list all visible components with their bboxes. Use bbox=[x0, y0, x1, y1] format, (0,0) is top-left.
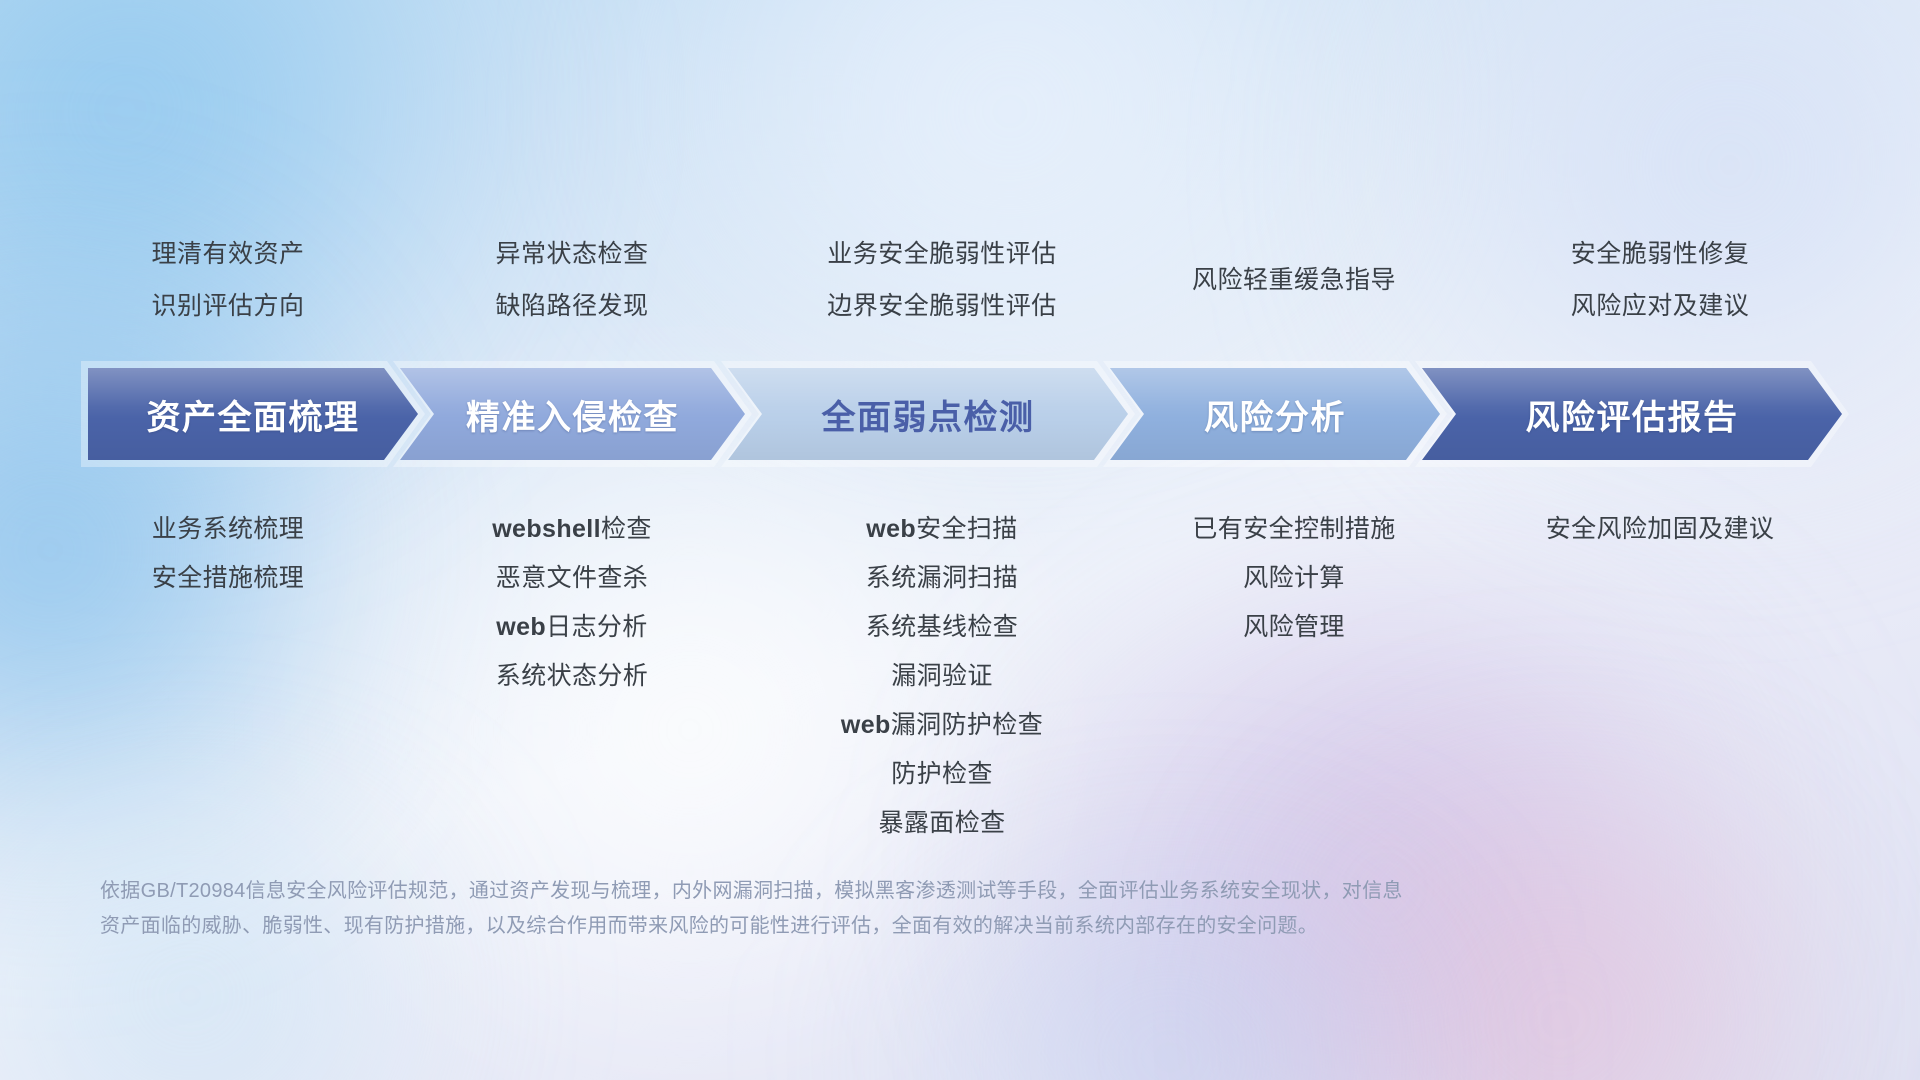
bottom-label-item: 暴露面检查 bbox=[841, 799, 1043, 848]
stage-chevron-5[interactable]: 风险评估报告 bbox=[1422, 368, 1842, 460]
bottom-label-item: 安全措施梳理 bbox=[152, 554, 304, 603]
bottom-label-latin: web bbox=[866, 515, 916, 543]
bottom-label-cjk: 暴露面检查 bbox=[878, 809, 1005, 837]
bottom-label-cjk: 防护检查 bbox=[891, 760, 993, 788]
bottom-label-item: 系统基线检查 bbox=[841, 603, 1043, 652]
bottom-label-cjk: 已有安全控制措施 bbox=[1192, 515, 1395, 543]
footer-line-1: 依据GB/T20984信息安全风险评估规范，通过资产发现与梳理，内外网漏洞扫描，… bbox=[100, 874, 1660, 909]
bottom-label-cjk: 安全扫描 bbox=[916, 515, 1018, 543]
top-label-line: 识别评估方向 bbox=[151, 280, 304, 332]
bottom-label-latin: web bbox=[841, 711, 891, 739]
stage-chevron-1[interactable]: 资产全面梳理 bbox=[88, 368, 418, 460]
stage-title: 精准入侵检查 bbox=[466, 390, 679, 439]
bottom-label-item: 风险计算 bbox=[1192, 554, 1395, 603]
stage-title: 全面弱点检测 bbox=[822, 390, 1035, 439]
bottom-label-cjk: 恶意文件查杀 bbox=[496, 564, 648, 592]
bottom-label-group-3: web安全扫描系统漏洞扫描系统基线检查漏洞验证web漏洞防护检查防护检查暴露面检… bbox=[841, 505, 1043, 848]
bottom-label-cjk: 漏洞验证 bbox=[891, 662, 993, 690]
stage-chevron-4[interactable]: 风险分析 bbox=[1110, 368, 1440, 460]
top-label-line: 理清有效资产 bbox=[151, 228, 304, 280]
bottom-label-latin: web bbox=[496, 613, 546, 641]
bottom-label-item: 风险管理 bbox=[1192, 603, 1395, 652]
footer-description: 依据GB/T20984信息安全风险评估规范，通过资产发现与梳理，内外网漏洞扫描，… bbox=[100, 874, 1660, 944]
bottom-label-cjk: 安全措施梳理 bbox=[152, 564, 304, 592]
top-label-line: 安全脆弱性修复 bbox=[1571, 228, 1750, 280]
bottom-label-group-5: 安全风险加固及建议 bbox=[1546, 505, 1775, 554]
bottom-label-cjk: 业务系统梳理 bbox=[152, 515, 304, 543]
top-label-line: 异常状态检查 bbox=[495, 228, 648, 280]
bottom-label-item: 安全风险加固及建议 bbox=[1546, 505, 1775, 554]
process-diagram: 理清有效资产识别评估方向异常状态检查缺陷路径发现业务安全脆弱性评估边界安全脆弱性… bbox=[0, 0, 1920, 1080]
bottom-label-item: web日志分析 bbox=[492, 603, 652, 652]
bottom-label-group-4: 已有安全控制措施风险计算风险管理 bbox=[1192, 505, 1395, 652]
bottom-label-item: 已有安全控制措施 bbox=[1192, 505, 1395, 554]
stage-chevron-3[interactable]: 全面弱点检测 bbox=[728, 368, 1128, 460]
top-label-line: 缺陷路径发现 bbox=[495, 280, 648, 332]
bottom-label-item: 业务系统梳理 bbox=[152, 505, 304, 554]
top-label-line: 风险应对及建议 bbox=[1571, 280, 1750, 332]
bottom-label-cjk: 系统漏洞扫描 bbox=[866, 564, 1018, 592]
stage-chevron-band: 资产全面梳理精准入侵检查全面弱点检测风险分析风险评估报告 bbox=[0, 368, 1920, 460]
stage-title: 资产全面梳理 bbox=[147, 390, 360, 439]
bottom-label-cjk: 安全风险加固及建议 bbox=[1546, 515, 1775, 543]
bottom-label-cjk: 日志分析 bbox=[546, 613, 648, 641]
bottom-label-item: webshell检查 bbox=[492, 505, 652, 554]
footer-line-2: 资产面临的威胁、脆弱性、现有防护措施，以及综合作用而带来风险的可能性进行评估，全… bbox=[100, 909, 1660, 944]
top-label-line: 边界安全脆弱性评估 bbox=[827, 280, 1057, 332]
top-label-line: 风险轻重缓急指导 bbox=[1192, 254, 1396, 306]
bottom-label-cjk: 检查 bbox=[601, 515, 652, 543]
stage-title: 风险分析 bbox=[1204, 390, 1346, 439]
bottom-label-cjk: 漏洞防护检查 bbox=[891, 711, 1043, 739]
bottom-label-latin: webshell bbox=[492, 515, 601, 543]
bottom-label-item: 漏洞验证 bbox=[841, 652, 1043, 701]
bottom-label-item: 恶意文件查杀 bbox=[492, 554, 652, 603]
bottom-label-item: web安全扫描 bbox=[841, 505, 1043, 554]
bottom-label-cjk: 风险管理 bbox=[1243, 613, 1345, 641]
top-label-line: 业务安全脆弱性评估 bbox=[827, 228, 1057, 280]
bottom-label-item: web漏洞防护检查 bbox=[841, 701, 1043, 750]
stage-title: 风险评估报告 bbox=[1526, 390, 1739, 439]
stage-chevron-2[interactable]: 精准入侵检查 bbox=[400, 368, 745, 460]
bottom-label-group-1: 业务系统梳理安全措施梳理 bbox=[152, 505, 304, 603]
bottom-label-cjk: 系统基线检查 bbox=[866, 613, 1018, 641]
bottom-label-item: 系统漏洞扫描 bbox=[841, 554, 1043, 603]
bottom-label-cjk: 风险计算 bbox=[1243, 564, 1345, 592]
bottom-label-cjk: 系统状态分析 bbox=[496, 662, 648, 690]
bottom-label-item: 系统状态分析 bbox=[492, 652, 652, 701]
bottom-label-group-2: webshell检查恶意文件查杀web日志分析系统状态分析 bbox=[492, 505, 652, 701]
bottom-label-item: 防护检查 bbox=[841, 750, 1043, 799]
